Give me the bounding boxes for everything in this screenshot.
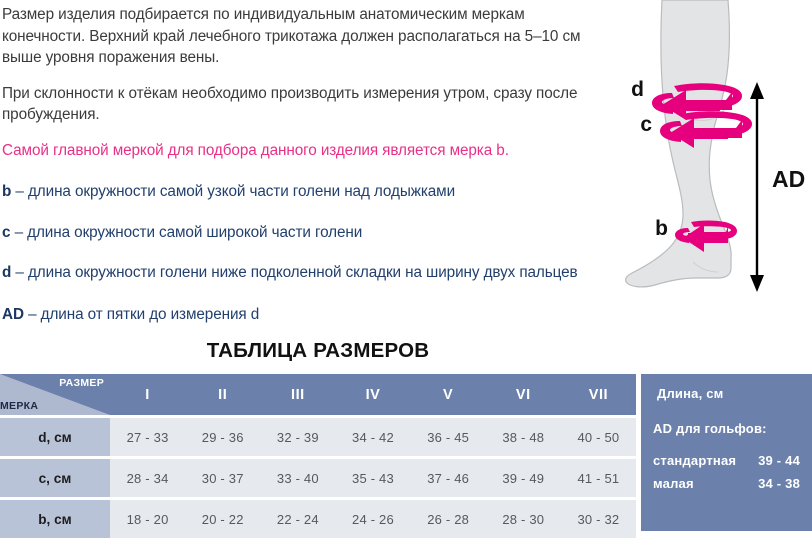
measurement-definition-d: d – длина окружности голени ниже подколе…	[2, 262, 602, 284]
length-value-small: 34 - 38	[758, 476, 800, 491]
size-table-header-row: РАЗМЕР МЕРКА I II III IV V VI VII	[0, 374, 636, 415]
leg-measurement-diagram: d c b	[600, 0, 812, 330]
cell-c-2: 30 - 37	[185, 459, 260, 497]
cell-c-1: 28 - 34	[110, 459, 185, 497]
cell-b-1: 18 - 20	[110, 500, 185, 538]
cell-b-2: 20 - 22	[185, 500, 260, 538]
measurement-desc-d: длина окружности голени ниже подколенной…	[28, 264, 578, 281]
column-header-4: IV	[335, 374, 410, 415]
row-values-b: 18 - 20 20 - 22 22 - 24 24 - 26 26 - 28 …	[110, 500, 636, 538]
row-label-b: b, см	[0, 500, 110, 538]
diagram-label-b: b	[655, 217, 668, 240]
measurement-definition-b: b – длина окружности самой узкой части г…	[2, 181, 602, 203]
cell-b-5: 26 - 28	[411, 500, 486, 538]
cell-d-2: 29 - 36	[185, 418, 260, 456]
cell-b-6: 28 - 30	[486, 500, 561, 538]
cell-b-3: 22 - 24	[260, 500, 335, 538]
intro-paragraph-1: Размер изделия подбирается по индивидуал…	[2, 4, 602, 69]
cell-c-5: 37 - 46	[411, 459, 486, 497]
page-root: Размер изделия подбирается по индивидуал…	[0, 0, 812, 531]
cell-c-3: 33 - 40	[260, 459, 335, 497]
measurement-dash-ad: –	[28, 306, 36, 323]
measurement-dash-c: –	[15, 224, 23, 241]
measurement-definition-ad: AD – длина от пятки до измерения d	[2, 304, 602, 326]
measurement-desc-ad: длина от пятки до измерения d	[41, 306, 260, 323]
column-header-6: VI	[486, 374, 561, 415]
column-header-7: VII	[561, 374, 636, 415]
measurement-dash-d: –	[15, 264, 23, 281]
length-name-standard: стандартная	[653, 453, 758, 468]
measurement-definition-c: c – длина окружности самой широкой части…	[2, 222, 602, 244]
cell-d-4: 34 - 42	[335, 418, 410, 456]
cell-b-4: 24 - 26	[335, 500, 410, 538]
cell-d-7: 40 - 50	[561, 418, 636, 456]
corner-measure-label: МЕРКА	[0, 400, 38, 412]
corner-size-label: РАЗМЕР	[59, 377, 104, 389]
cell-d-5: 36 - 45	[411, 418, 486, 456]
table-row: b, см 18 - 20 20 - 22 22 - 24 24 - 26 26…	[0, 500, 636, 538]
measurement-desc-c: длина окружности самой широкой части гол…	[27, 224, 362, 241]
table-row: c, см 28 - 34 30 - 37 33 - 40 35 - 43 37…	[0, 459, 636, 497]
intro-text-column: Размер изделия подбирается по индивидуал…	[2, 4, 602, 344]
ad-length-arrow-icon	[750, 82, 764, 292]
cell-c-4: 35 - 43	[335, 459, 410, 497]
cell-d-6: 38 - 48	[486, 418, 561, 456]
cell-d-1: 27 - 33	[110, 418, 185, 456]
length-panel-title: Длина, см	[657, 386, 800, 401]
row-values-c: 28 - 34 30 - 37 33 - 40 35 - 43 37 - 46 …	[110, 459, 636, 497]
measurement-desc-b: длина окружности самой узкой части голен…	[28, 183, 455, 200]
row-values-d: 27 - 33 29 - 36 32 - 39 34 - 42 36 - 45 …	[110, 418, 636, 456]
measurement-dash-b: –	[15, 183, 23, 200]
measurement-key-b: b	[2, 183, 11, 200]
length-row-small: малая 34 - 38	[653, 476, 800, 491]
cell-c-7: 41 - 51	[561, 459, 636, 497]
diagram-label-d: d	[631, 78, 644, 101]
row-label-c: c, см	[0, 459, 110, 497]
length-value-standard: 39 - 44	[758, 453, 800, 468]
column-header-5: V	[411, 374, 486, 415]
cell-b-7: 30 - 32	[561, 500, 636, 538]
intro-highlight-note: Самой главной меркой для подбора данного…	[2, 140, 602, 162]
length-name-small: малая	[653, 476, 758, 491]
row-label-d: d, см	[0, 418, 110, 456]
intro-paragraph-2: При склонности к отёкам необходимо произ…	[2, 83, 602, 126]
column-header-2: II	[185, 374, 260, 415]
length-row-standard: стандартная 39 - 44	[653, 453, 800, 468]
measurement-key-d: d	[2, 264, 11, 281]
diagram-label-ad: AD	[772, 166, 805, 192]
length-info-panel: Длина, см AD для гольфов: стандартная 39…	[641, 374, 812, 531]
leg-silhouette-icon	[626, 0, 732, 287]
size-table: РАЗМЕР МЕРКА I II III IV V VI VII d, см …	[0, 374, 636, 538]
size-table-title: ТАБЛИЦА РАЗМЕРОВ	[0, 339, 636, 363]
table-row: d, см 27 - 33 29 - 36 32 - 39 34 - 42 36…	[0, 418, 636, 456]
length-panel-subtitle: AD для гольфов:	[653, 421, 800, 436]
cell-c-6: 39 - 49	[486, 459, 561, 497]
column-header-1: I	[110, 374, 185, 415]
measurement-key-c: c	[2, 224, 10, 241]
cell-d-3: 32 - 39	[260, 418, 335, 456]
diagram-label-c: c	[640, 113, 652, 136]
size-table-corner-cell: РАЗМЕР МЕРКА	[0, 374, 110, 415]
column-header-3: III	[260, 374, 335, 415]
measurement-key-ad: AD	[2, 306, 24, 323]
